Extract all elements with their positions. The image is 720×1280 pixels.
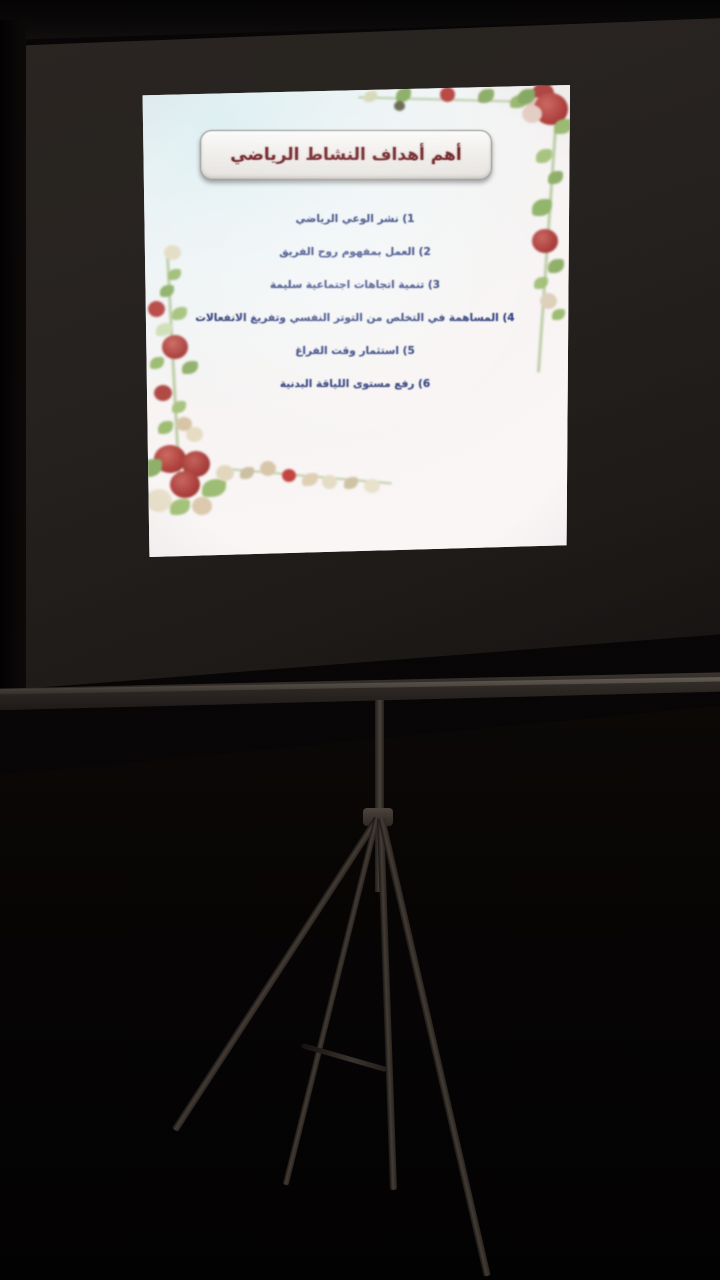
list-item-number: 3) xyxy=(428,279,440,291)
screen-left-shadow xyxy=(0,20,26,710)
list-item-label: تنمية اتجاهات اجتماعية سليمة xyxy=(270,279,424,291)
slide-bullet-list: 1) نشر الوعي الرياضي 2) العمل بمفهوم روح… xyxy=(140,213,570,411)
list-item: 6) رفع مستوى اللياقة البدنية xyxy=(140,378,570,390)
list-item-number: 5) xyxy=(403,345,415,357)
list-item-label: استثمار وقت الفراغ xyxy=(295,345,399,357)
list-item: 3) تنمية اتجاهات اجتماعية سليمة xyxy=(140,279,570,291)
list-item-number: 2) xyxy=(419,246,431,258)
list-item-label: رفع مستوى اللياقة البدنية xyxy=(280,378,415,390)
tripod-leg-left-inner xyxy=(283,817,380,1185)
list-item-number: 1) xyxy=(402,213,414,225)
list-item-number: 4) xyxy=(502,312,514,324)
list-item-label: نشر الوعي الرياضي xyxy=(296,213,399,225)
tripod-leg-right xyxy=(378,817,491,1277)
page-title: أهم أهداف النشاط الرياضي xyxy=(230,145,461,165)
list-item-label: العمل بمفهوم روح الفريق xyxy=(279,246,415,258)
tripod-stand xyxy=(0,700,720,1280)
slide-title-box: أهم أهداف النشاط الرياضي xyxy=(200,130,492,180)
photo-scene: أهم أهداف النشاط الرياضي 1) نشر الوعي ال… xyxy=(0,0,720,1280)
list-item: 5) استثمار وقت الفراغ xyxy=(140,345,570,357)
list-item: 2) العمل بمفهوم روح الفريق xyxy=(140,246,570,258)
list-item: 1) نشر الوعي الرياضي xyxy=(140,213,570,225)
projected-slide: أهم أهداف النشاط الرياضي 1) نشر الوعي ال… xyxy=(140,85,570,557)
tripod-leg-left xyxy=(172,816,380,1132)
list-item: 4) المساهمة في التخلص من التوتر النفسي و… xyxy=(140,312,570,324)
list-item-number: 6) xyxy=(418,378,430,390)
list-item-label: المساهمة في التخلص من التوتر النفسي وتفر… xyxy=(195,312,498,324)
